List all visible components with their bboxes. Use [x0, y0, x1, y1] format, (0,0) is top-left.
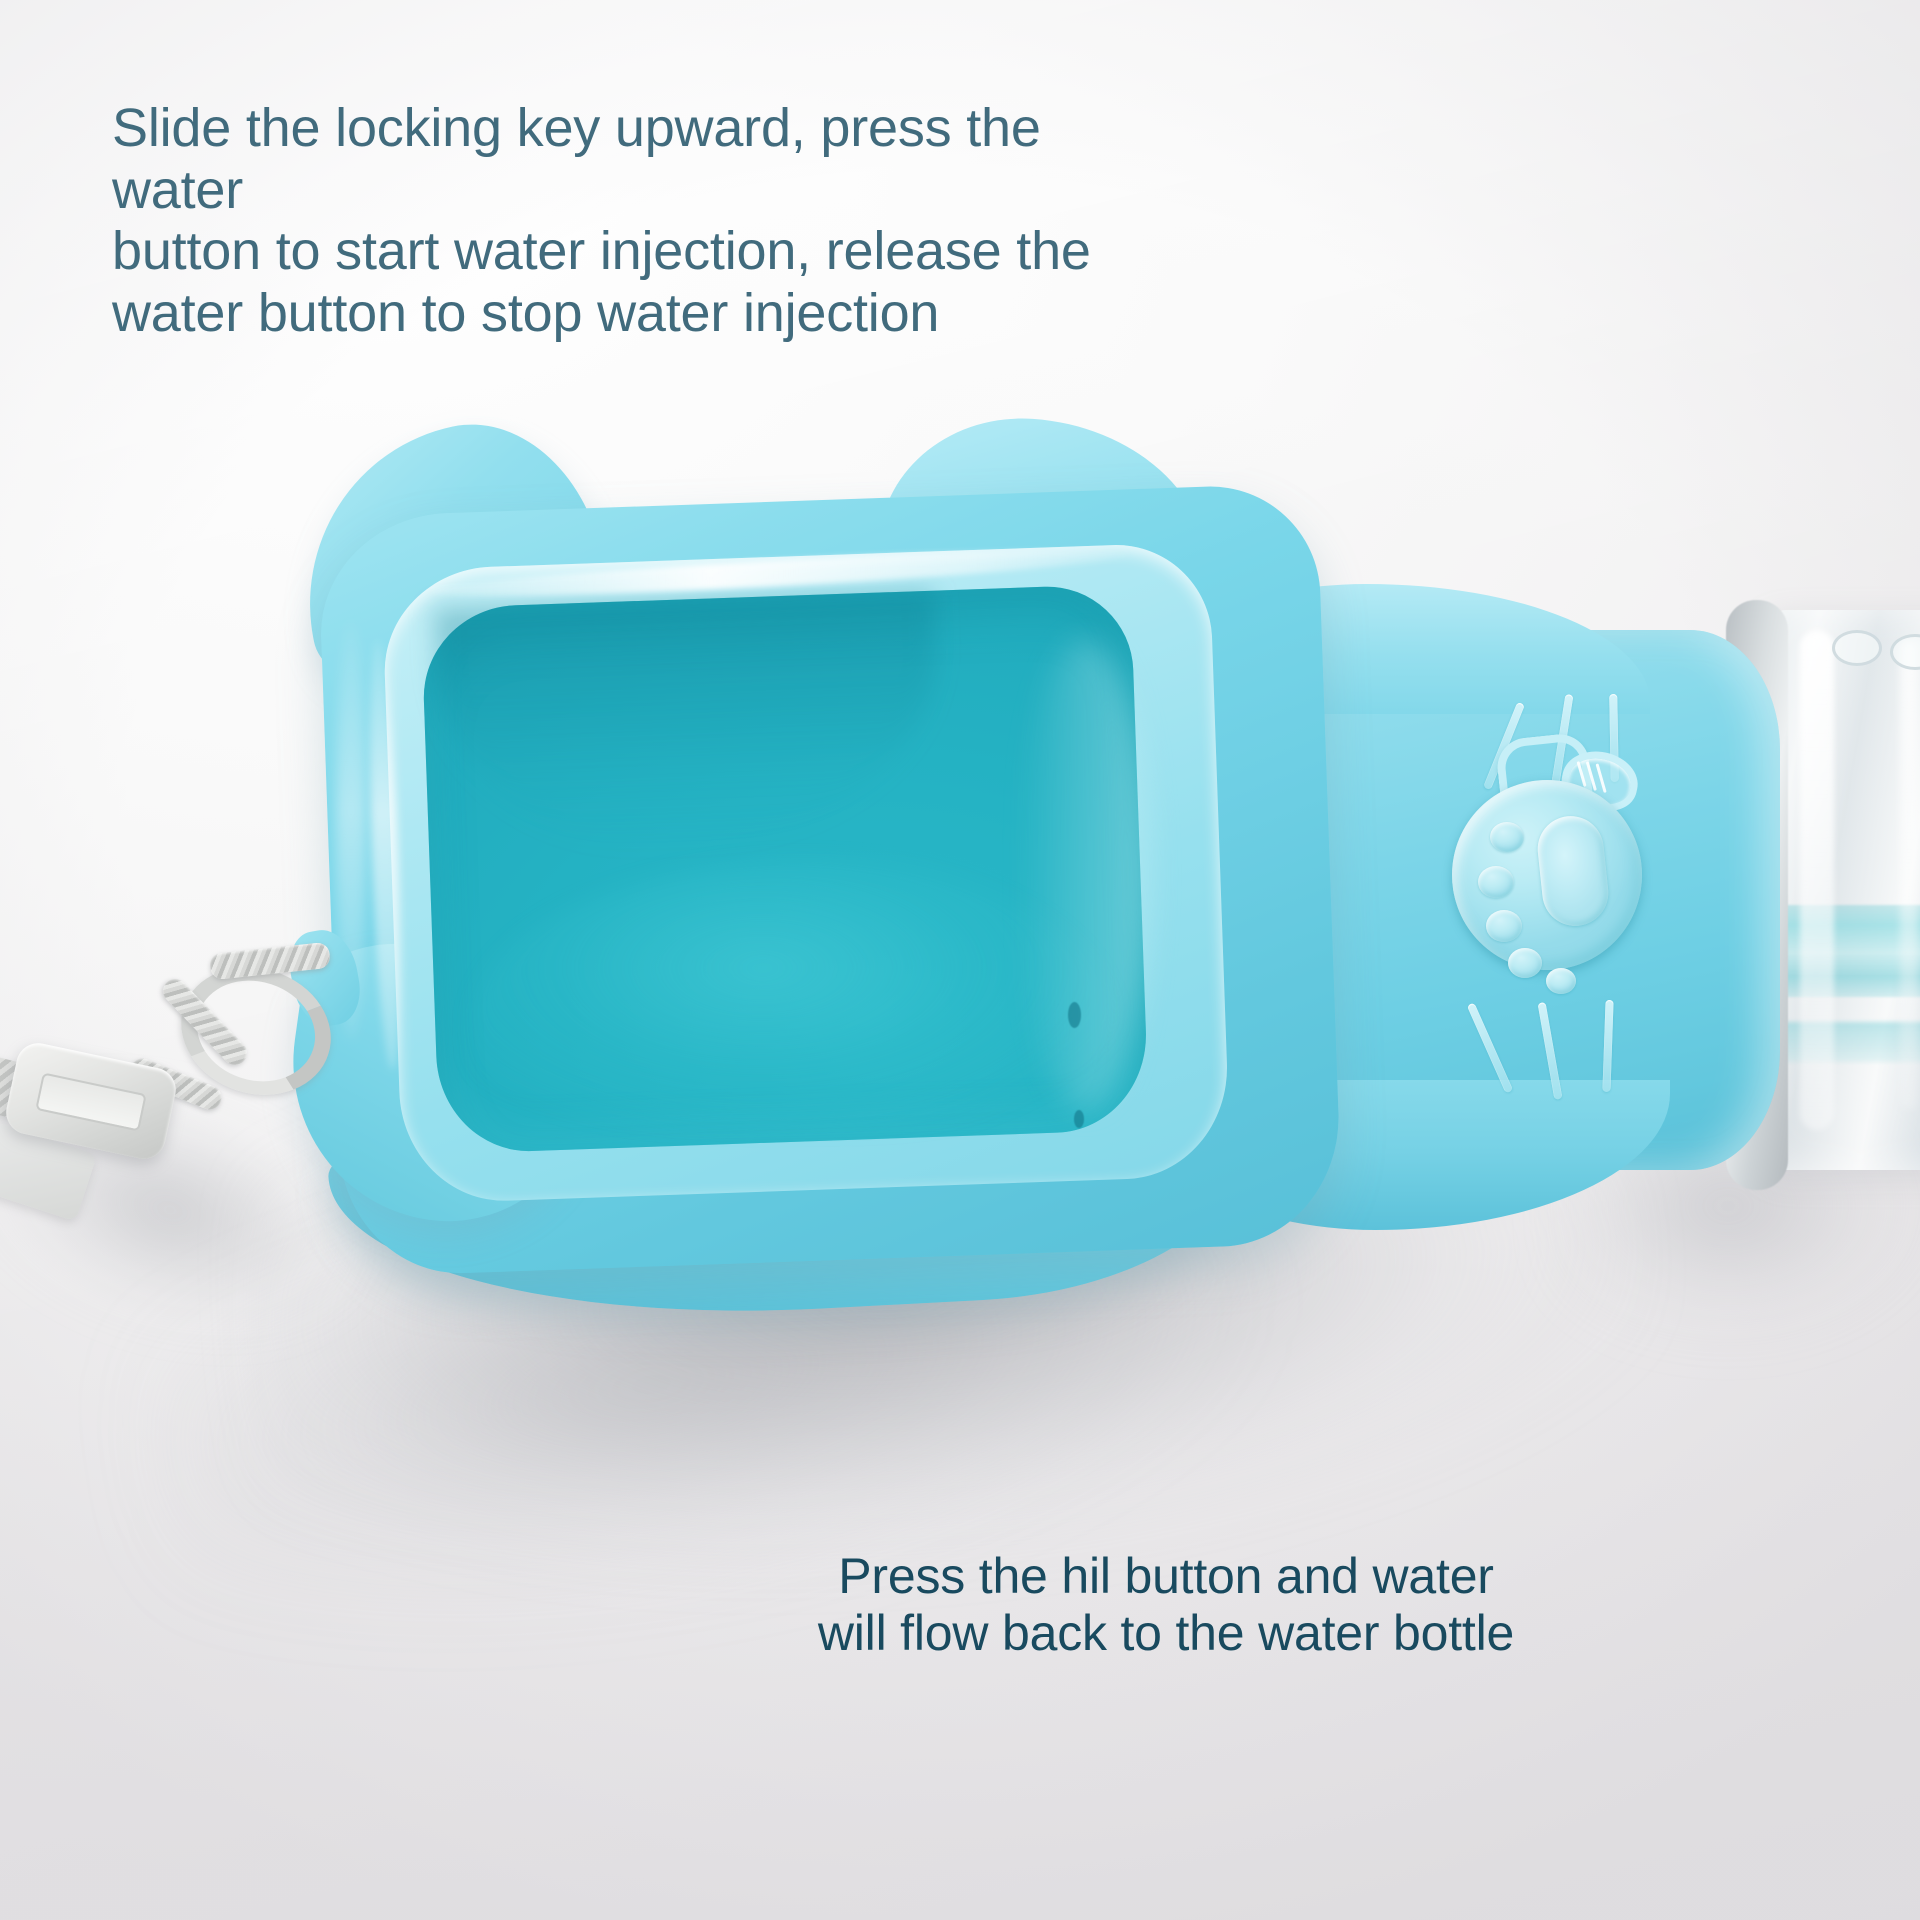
instruction-caption-top: Slide the locking key upward, press the … [112, 98, 1172, 344]
water-bottle-highlight [1800, 630, 1834, 1130]
paw-toe-bean [1490, 822, 1524, 852]
paw-toe-bean [1478, 866, 1514, 898]
water-bottle-highlight-2 [1900, 640, 1918, 1110]
locking-key-hatch [1596, 763, 1607, 793]
product-instruction-image: Slide the locking key upward, press the … [0, 0, 1920, 1920]
water-bottle-nub [1832, 630, 1882, 666]
locking-key-hatch [1577, 761, 1587, 787]
paw-toe-bean [1546, 968, 1576, 994]
instruction-caption-bottom: Press the hil button and water will flow… [786, 1548, 1546, 1662]
paw-toe-bean [1486, 910, 1522, 942]
basin-port-hole [1068, 1002, 1081, 1028]
basin-port-hole [1074, 1110, 1084, 1128]
basin-right-sheen [1020, 640, 1150, 1110]
paw-toe-bean [1508, 948, 1542, 978]
